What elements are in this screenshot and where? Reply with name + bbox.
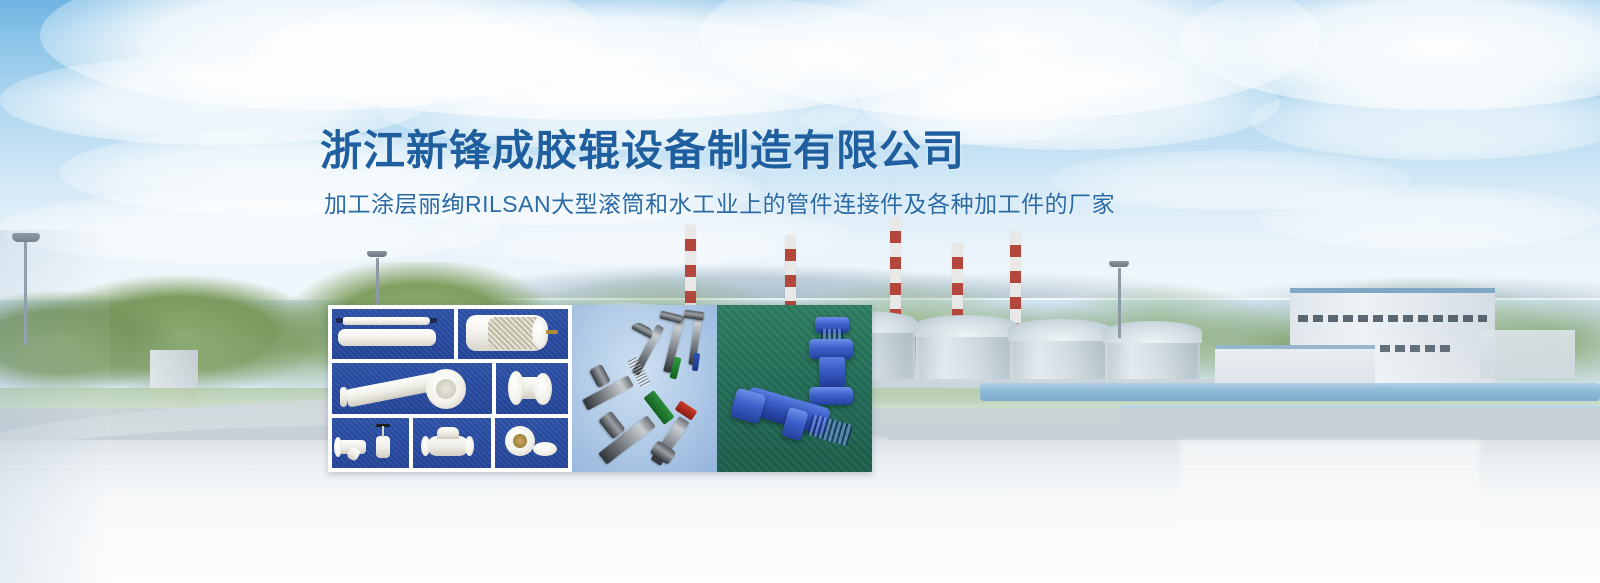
check-valve-body [427,436,469,456]
water-reflection [1180,440,1480,550]
bolt-head [631,320,655,338]
valve-cover [533,442,557,456]
parts-row-3 [332,418,568,468]
blue-nut [809,387,853,405]
valve-flange [465,436,474,456]
headline-block: 浙江新锋成胶辊设备制造有限公司 加工涂层丽绚RILSAN大型滚筒和水工业上的管件… [320,126,1115,218]
valve-seat [513,434,527,448]
rubber-roller-tile[interactable] [332,309,454,359]
blue-nut [809,339,853,359]
flanged-pipe [345,373,439,408]
roller-shaft [430,318,437,323]
coated-bolts-pane[interactable] [572,305,717,472]
storage-tank [916,327,1016,383]
blue-bolt-thread-lying [807,414,853,447]
outbuilding [1480,330,1575,378]
street-lamp [1118,268,1121,338]
check-valve-tile[interactable] [413,418,491,468]
storage-tank [1010,331,1110,383]
rubber-roller [338,329,436,346]
blue-coated-bolts-pane[interactable] [717,305,872,472]
parts-row-2 [332,363,568,413]
flanged-pipe-tile[interactable] [332,363,492,413]
bolt-head [684,310,705,321]
check-valve-bonnet [437,427,459,439]
hero-banner: 浙江新锋成胶辊设备制造有限公司 加工涂层丽绚RILSAN大型滚筒和水工业上的管件… [0,0,1600,583]
flange-face [508,371,524,405]
strainer-valve-tile[interactable] [332,418,409,468]
gate-valve-body [376,436,390,458]
bolt-head [589,364,611,388]
window-row [1298,315,1487,322]
roller-shaft [546,330,558,334]
blue-coating [692,353,700,372]
blue-pipeline [980,383,1600,401]
blue-bolt-shank [819,357,845,391]
valve-flange [421,436,430,456]
flange-fitting-tile[interactable] [496,363,568,413]
parts-row-1 [332,309,568,359]
product-collage[interactable] [328,305,872,472]
perforated-roller-tile[interactable] [458,309,568,359]
pipe-flange [340,387,347,407]
valve-stem [382,426,384,437]
company-title: 浙江新锋成胶辊设备制造有限公司 [320,126,1115,176]
strainer-flange [334,437,342,457]
flange-face [534,373,552,405]
bolt-head [659,310,682,323]
storage-tank [1105,333,1200,383]
company-tagline: 加工涂层丽绚RILSAN大型滚筒和水工业上的管件连接件及各种加工件的厂家 [324,190,1115,219]
roller-shaft [336,318,343,323]
street-lamp [24,240,27,345]
coated-parts-pane[interactable] [328,305,572,472]
rubber-roller [342,317,430,325]
valve-discs-tile[interactable] [495,418,568,468]
